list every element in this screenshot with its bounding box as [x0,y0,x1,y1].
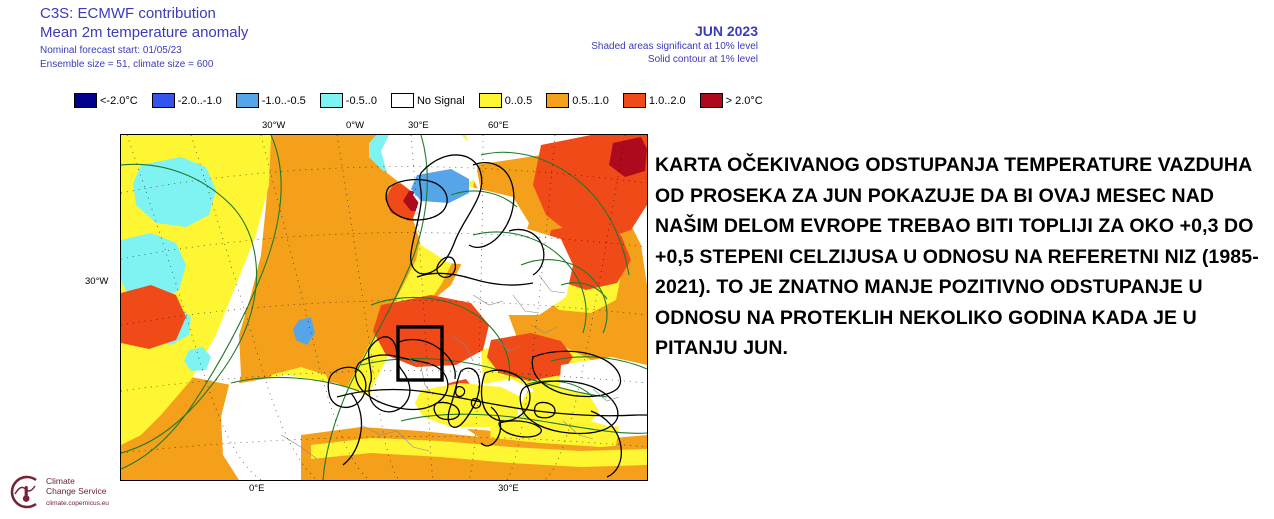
header-right-block: JUN 2023 Shaded areas significant at 10%… [591,22,758,66]
color-legend: <-2.0°C -2.0..-1.0 -1.0..-0.5 -0.5..0 No… [74,93,777,108]
logo-text-block: Climate Change Service climate.copernicu… [46,476,109,509]
significance-contour-note: Solid contour at 1% level [591,53,758,66]
legend-item: -0.5..0 [320,93,377,108]
legend-label: 0..0.5 [505,95,533,107]
legend-item: 0.5..1.0 [546,93,609,108]
legend-swatch-icon [74,93,97,108]
axis-top-tick-label: 30°E [408,120,429,131]
logo-url: climate.copernicus.eu [46,499,109,509]
legend-item: <-2.0°C [74,93,138,108]
product-title: C3S: ECMWF contribution [40,4,248,23]
header-left-block: C3S: ECMWF contribution Mean 2m temperat… [40,4,248,71]
legend-swatch-icon [320,93,343,108]
climate-forecast-figure: C3S: ECMWF contribution Mean 2m temperat… [0,0,1274,519]
legend-swatch-icon [546,93,569,108]
legend-label: -2.0..-1.0 [178,95,222,107]
map-raster [121,135,647,480]
legend-label: -1.0..-0.5 [262,95,306,107]
ensemble-size-label: Ensemble size = 51, climate size = 600 [40,58,248,71]
legend-swatch-icon [236,93,259,108]
anomaly-map [120,134,648,481]
axis-top-tick-label: 60°E [488,120,509,131]
legend-swatch-icon [700,93,723,108]
map-frame [120,134,648,481]
caption-text: KARTA OČEKIVANOG ODSTUPANJA TEMPERATURE … [655,150,1260,364]
axis-top-tick-label: 0°W [346,120,364,131]
axis-bottom-tick-label: 0°E [249,483,264,494]
axis-bottom-tick-label: 30°E [498,483,519,494]
legend-label: No Signal [417,95,465,107]
copernicus-c3s-icon [6,474,42,510]
logo-line-2: Change Service [46,486,109,496]
legend-label: -0.5..0 [346,95,377,107]
axis-left-tick-label: 30°W [85,276,108,287]
legend-item: 0..0.5 [479,93,533,108]
significance-shaded-note: Shaded areas significant at 10% level [591,40,758,53]
legend-item: No Signal [391,93,465,108]
legend-swatch-icon [391,93,414,108]
forecast-start-label: Nominal forecast start: 01/05/23 [40,44,248,57]
legend-swatch-icon [152,93,175,108]
axis-top-tick-label: 30°W [262,120,285,131]
legend-item: > 2.0°C [700,93,763,108]
legend-label: <-2.0°C [100,95,138,107]
legend-swatch-icon [623,93,646,108]
legend-item: 1.0..2.0 [623,93,686,108]
forecast-month-label: JUN 2023 [591,22,758,40]
legend-item: -2.0..-1.0 [152,93,222,108]
legend-label: > 2.0°C [726,95,763,107]
legend-label: 1.0..2.0 [649,95,686,107]
legend-item: -1.0..-0.5 [236,93,306,108]
legend-label: 0.5..1.0 [572,95,609,107]
logo-line-1: Climate [46,476,109,486]
variable-title: Mean 2m temperature anomaly [40,23,248,43]
legend-swatch-icon [479,93,502,108]
copernicus-logo: Climate Change Service climate.copernicu… [6,474,109,510]
